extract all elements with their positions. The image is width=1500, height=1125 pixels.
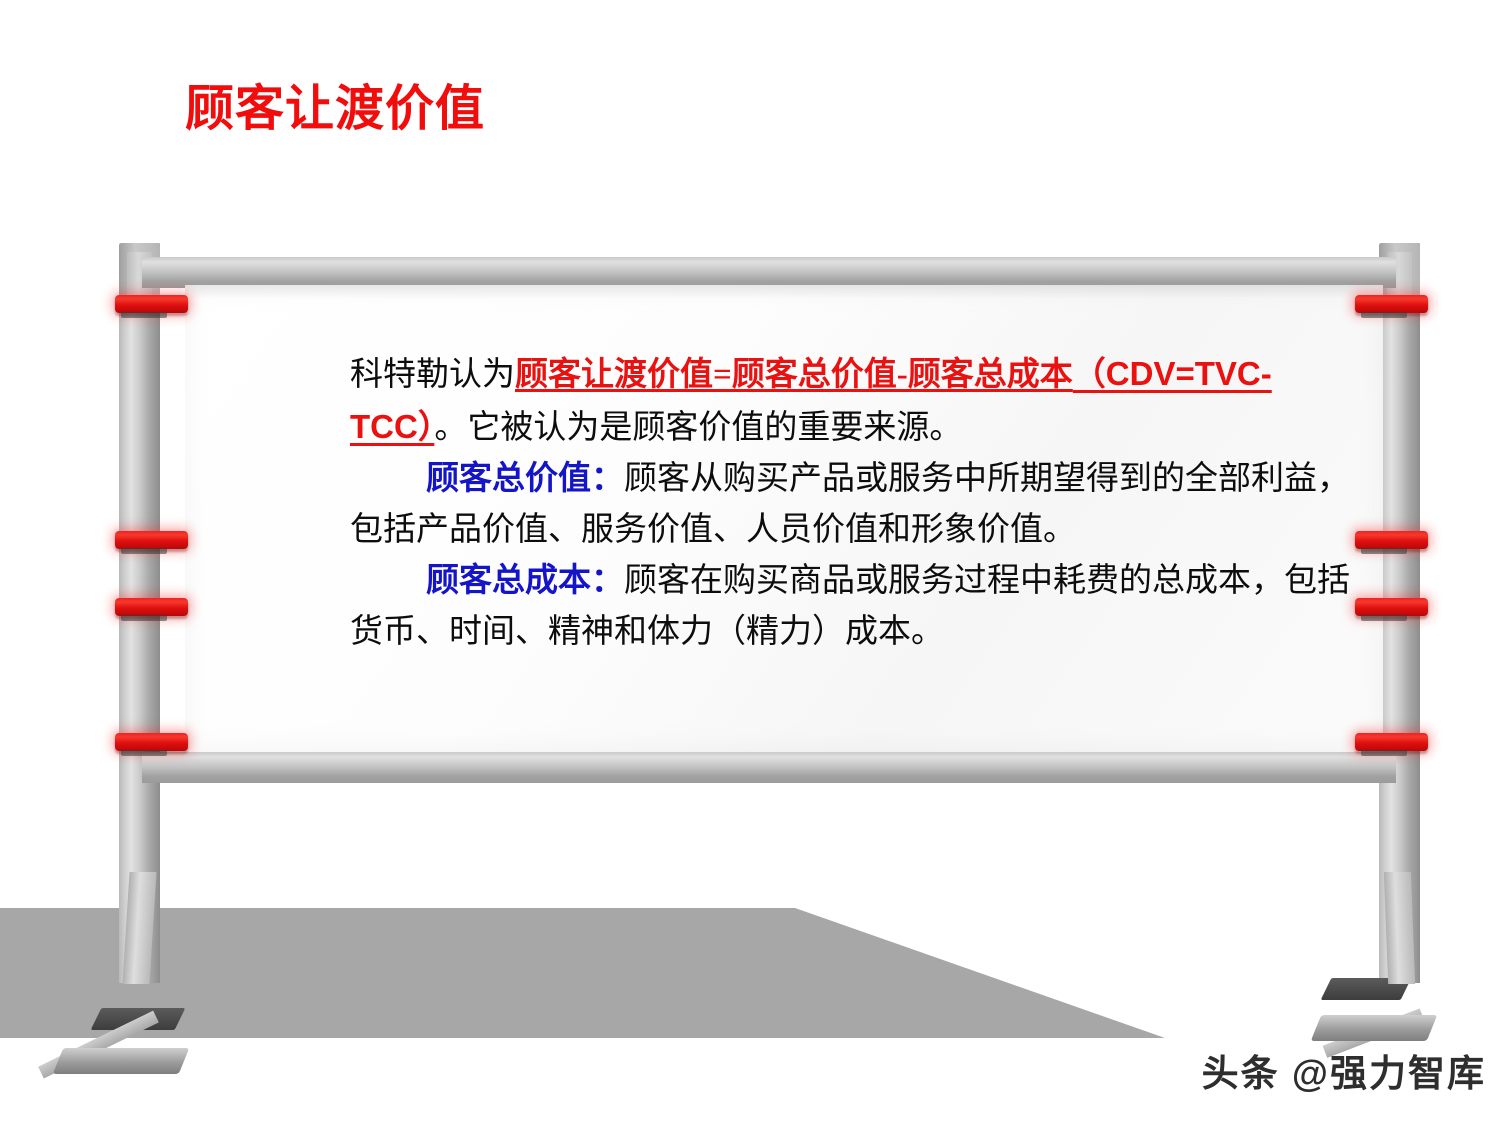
total-value-label: 顾客总价值： [426, 461, 624, 497]
easel-foot-left [53, 1048, 190, 1074]
definition-formula-cn: 顾客让渡价值=顾客总价值-顾客总成本 [515, 357, 1073, 393]
red-clip-right-4 [1355, 733, 1428, 751]
definition-tail: 。它被认为是顾客价值的重要来源。 [434, 410, 962, 446]
easel-foot-right [1311, 1015, 1438, 1041]
total-cost-label: 顾客总成本： [426, 563, 624, 599]
paragraph-total-value: 顾客总价值：顾客从购买产品或服务中所期望得到的全部利益，包括产品价值、服务价值、… [350, 454, 1350, 556]
red-clip-right-3 [1355, 598, 1428, 616]
red-clip-right-2 [1355, 531, 1428, 549]
easel-leg-right [1384, 872, 1415, 984]
red-clip-right-1 [1355, 295, 1428, 313]
definition-lead: 科特勒认为 [350, 357, 515, 393]
paragraph-definition: 科特勒认为顾客让渡价值=顾客总价值-顾客总成本（CDV=TVC-TCC）。它被认… [350, 348, 1350, 454]
paragraph-total-cost: 顾客总成本：顾客在购买商品或服务过程中耗费的总成本，包括货币、时间、精神和体力（… [350, 556, 1350, 658]
red-clip-left-3 [115, 598, 188, 616]
watermark: 头条 @强力智库 [1202, 1043, 1486, 1097]
easel-rail-bottom [142, 752, 1396, 783]
slide-canvas: 顾客让渡价值 科特勒认为顾客让渡价值 [0, 0, 1500, 1125]
red-clip-left-1 [115, 295, 188, 313]
red-clip-left-2 [115, 531, 188, 549]
red-clip-left-4 [115, 733, 188, 751]
board-text-block: 科特勒认为顾客让渡价值=顾客总价值-顾客总成本（CDV=TVC-TCC）。它被认… [350, 348, 1350, 658]
easel-rail-top [142, 257, 1396, 288]
